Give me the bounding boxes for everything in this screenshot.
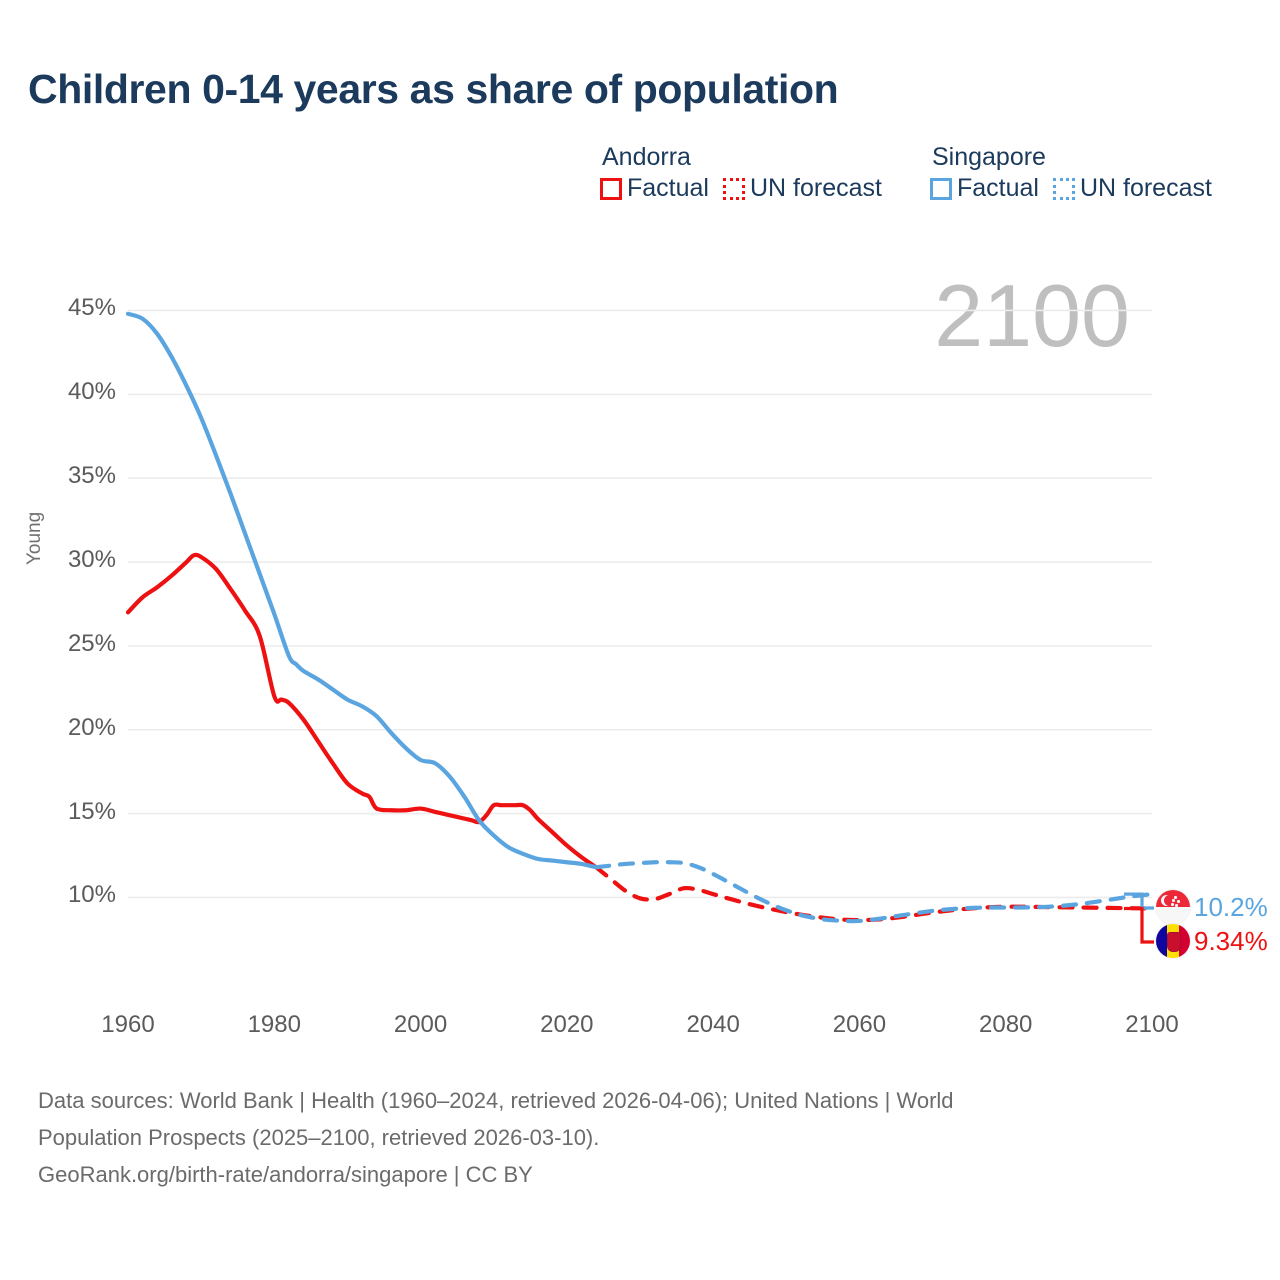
leader-line-andorra xyxy=(1124,909,1154,942)
series-lines xyxy=(128,314,1152,921)
line-andorra-forecast xyxy=(596,867,1152,920)
andorra-flag-icon xyxy=(1156,924,1190,958)
y-tick-label: 35% xyxy=(36,462,116,490)
line-andorra-factual xyxy=(128,555,596,867)
x-tick-label: 2040 xyxy=(653,1011,773,1039)
end-label-andorra: 9.34% xyxy=(1156,924,1268,958)
x-tick-label: 1960 xyxy=(68,1011,188,1039)
y-tick-label: 10% xyxy=(36,881,116,909)
footer-line-1: Data sources: World Bank | Health (1960–… xyxy=(38,1082,1218,1119)
x-tick-label: 1980 xyxy=(214,1011,334,1039)
y-tick-label: 45% xyxy=(36,294,116,322)
line-singapore-factual xyxy=(128,314,596,867)
y-tick-label: 25% xyxy=(36,630,116,658)
gridlines xyxy=(128,310,1152,897)
x-tick-label: 2100 xyxy=(1092,1011,1212,1039)
footer-line-3: GeoRank.org/birth-rate/andorra/singapore… xyxy=(38,1156,1218,1193)
end-label-singapore: 10.2% xyxy=(1156,890,1268,924)
x-tick-label: 2020 xyxy=(507,1011,627,1039)
y-tick-label: 20% xyxy=(36,714,116,742)
y-tick-label: 15% xyxy=(36,798,116,826)
x-tick-label: 2060 xyxy=(799,1011,919,1039)
end-label-value-singapore: 10.2% xyxy=(1194,892,1268,923)
x-tick-label: 2000 xyxy=(361,1011,481,1039)
line-singapore-forecast xyxy=(596,862,1152,921)
singapore-flag-icon xyxy=(1156,890,1190,924)
x-tick-label: 2080 xyxy=(946,1011,1066,1039)
footer-line-2: Population Prospects (2025–2100, retriev… xyxy=(38,1119,1218,1156)
end-label-value-andorra: 9.34% xyxy=(1194,926,1268,957)
chart-root: Children 0-14 years as share of populati… xyxy=(0,0,1280,1280)
footer-sources: Data sources: World Bank | Health (1960–… xyxy=(38,1082,1218,1193)
leader-lines xyxy=(1124,894,1154,942)
y-tick-label: 30% xyxy=(36,546,116,574)
y-tick-label: 40% xyxy=(36,378,116,406)
